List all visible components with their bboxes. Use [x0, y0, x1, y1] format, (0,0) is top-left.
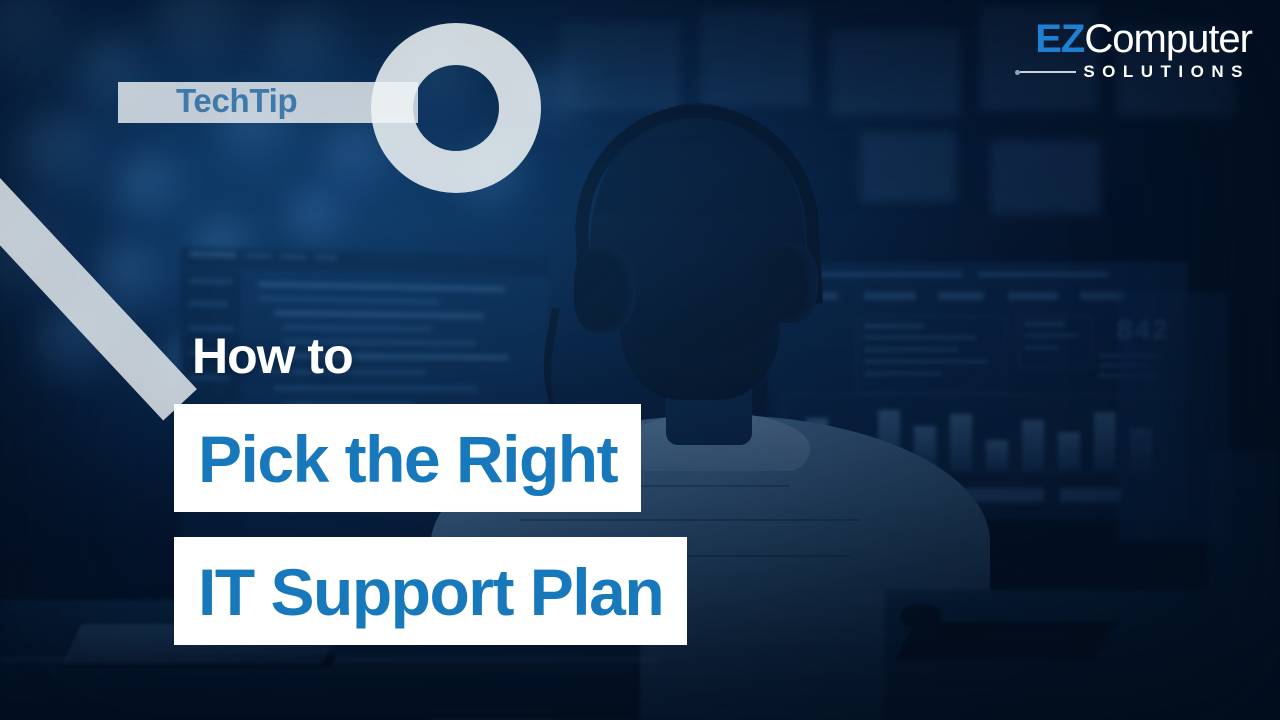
logo-tagline: SOLUTIONS — [1083, 62, 1250, 82]
logo-rule-icon — [1015, 70, 1076, 75]
ezcomputer-solutions-logo[interactable]: EZComputer SOLUTIONS — [1015, 18, 1252, 82]
page-title: How to Pick the Right IT Support Plan — [174, 330, 794, 645]
title-line1-row: Pick the Right — [174, 404, 794, 512]
title-line1: Pick the Right — [174, 404, 641, 512]
title-line2-row: IT Support Plan — [174, 537, 794, 645]
title-eyebrow: How to — [192, 330, 794, 382]
techtip-banner: 842 — [0, 0, 1280, 720]
logo-ez-mark: EZ — [1035, 17, 1084, 61]
techtip-badge: TechTip — [0, 0, 580, 300]
logo-wordmark: EZComputer — [1015, 18, 1252, 60]
title-line2: IT Support Plan — [174, 537, 687, 645]
logo-tagline-row: SOLUTIONS — [1015, 62, 1250, 82]
techtip-label: TechTip — [176, 78, 297, 124]
logo-computer-word: Computer — [1084, 17, 1252, 61]
magnifier-lens-icon — [371, 23, 541, 193]
